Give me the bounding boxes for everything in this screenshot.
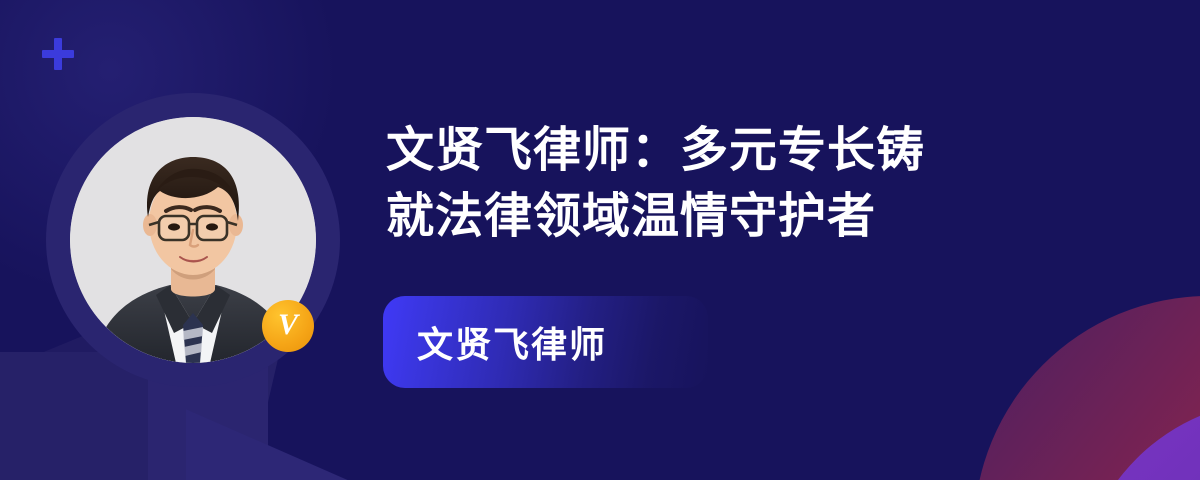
- headline-block: 文贤飞律师：多元专长铸 就法律领域温情守护者: [386, 118, 1086, 250]
- plus-icon-vertical-bar: [54, 38, 62, 70]
- bottom-right-red-circle: [974, 296, 1200, 480]
- bottom-left-polygon-c: [186, 390, 416, 480]
- verified-badge-mark: V: [278, 310, 298, 340]
- verified-badge: V: [262, 300, 314, 352]
- page-title: 文贤飞律师：多元专长铸 就法律领域温情守护者: [386, 118, 1086, 250]
- avatar: V: [46, 93, 340, 387]
- lawyer-name-button[interactable]: 文贤飞律师: [383, 296, 708, 388]
- plus-icon: [42, 38, 74, 70]
- promo-banner: V 文贤飞律师：多元专长铸 就法律领域温情守护者 文贤飞律师: [0, 0, 1200, 480]
- bottom-right-purple-circle: [1078, 400, 1200, 480]
